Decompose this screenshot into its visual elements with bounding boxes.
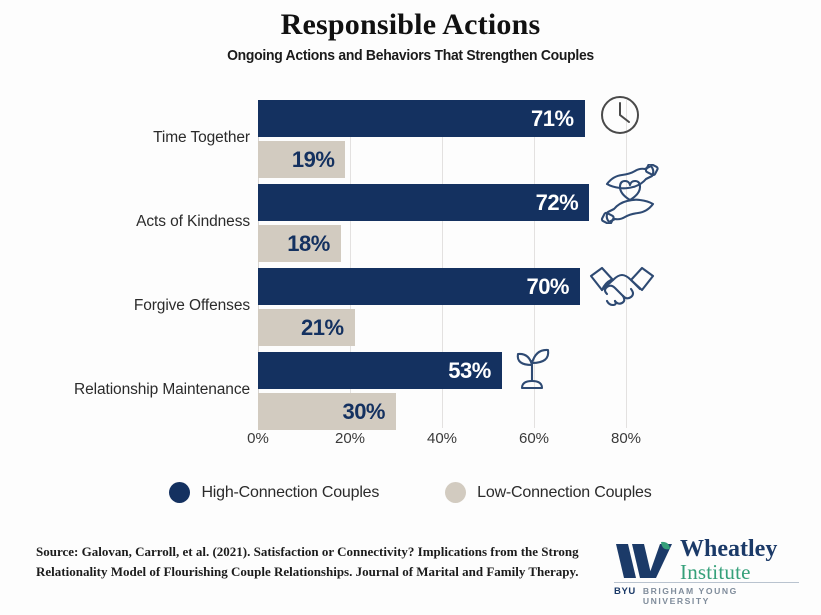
category-label: Forgive Offenses (18, 297, 250, 315)
bar-value-label: 19% (292, 149, 335, 171)
source-citation: Source: Galovan, Carroll, et al. (2021).… (36, 542, 581, 582)
category-label: Relationship Maintenance (18, 381, 250, 399)
category-label: Acts of Kindness (18, 213, 250, 231)
bar-low-connection: 19% (258, 141, 345, 178)
legend-swatch-low (445, 482, 466, 503)
category-label: Time Together (18, 129, 250, 147)
logo-university-name: BRIGHAM YOUNG UNIVERSITY (643, 586, 801, 606)
chart-legend: High-Connection Couples Low-Connection C… (0, 482, 821, 503)
bar-value-label: 53% (448, 360, 491, 382)
x-tick-label: 0% (228, 430, 288, 447)
handshake-icon (588, 262, 656, 306)
legend-item-low[interactable]: Low-Connection Couples (445, 482, 651, 503)
logo-name: Wheatley (680, 537, 777, 561)
x-tick-label: 20% (320, 430, 380, 447)
logo-byu-abbr: BYU (614, 586, 636, 597)
logo-institute: Institute (680, 562, 777, 583)
chart-page: Responsible Actions Ongoing Actions and … (0, 0, 821, 615)
bar-value-label: 71% (531, 108, 574, 130)
bar-value-label: 72% (536, 192, 579, 214)
bar-value-label: 18% (287, 233, 330, 255)
page-title: Responsible Actions (0, 0, 821, 42)
x-tick-label: 40% (412, 430, 472, 447)
hands-heart-icon (599, 164, 661, 224)
legend-label-low: Low-Connection Couples (477, 484, 651, 502)
x-axis: 0%20%40%60%80% (0, 430, 821, 454)
legend-label-high: High-Connection Couples (201, 484, 379, 502)
seedling-icon (508, 343, 556, 391)
page-subtitle: Ongoing Actions and Behaviors That Stren… (29, 42, 793, 64)
logo-divider (614, 582, 799, 583)
bar-value-label: 70% (526, 276, 569, 298)
bar-high-connection: 53% (258, 352, 502, 389)
logo-wordmark: Wheatley Institute (680, 537, 777, 583)
bar-low-connection: 30% (258, 393, 396, 430)
chart-plot-area: 71%19%72%18%70%21%53%30% Time TogetherAc… (0, 96, 821, 446)
legend-item-high[interactable]: High-Connection Couples (169, 482, 379, 503)
bar-low-connection: 21% (258, 309, 355, 346)
wheatley-w-mark-icon (614, 541, 676, 586)
chart-footer: Source: Galovan, Carroll, et al. (2021).… (0, 535, 821, 605)
bar-value-label: 30% (342, 401, 385, 423)
legend-swatch-high (169, 482, 190, 503)
bar-high-connection: 70% (258, 268, 580, 305)
bar-high-connection: 72% (258, 184, 589, 221)
bar-low-connection: 18% (258, 225, 341, 262)
x-tick-label: 60% (504, 430, 564, 447)
bar-high-connection: 71% (258, 100, 585, 137)
wheatley-institute-logo: Wheatley Institute BYU BRIGHAM YOUNG UNI… (606, 535, 801, 597)
clock-icon (597, 92, 643, 138)
bar-value-label: 21% (301, 317, 344, 339)
chart-header: Responsible Actions Ongoing Actions and … (0, 0, 821, 64)
x-tick-label: 80% (596, 430, 656, 447)
logo-byu-line: BYU BRIGHAM YOUNG UNIVERSITY (614, 586, 801, 606)
